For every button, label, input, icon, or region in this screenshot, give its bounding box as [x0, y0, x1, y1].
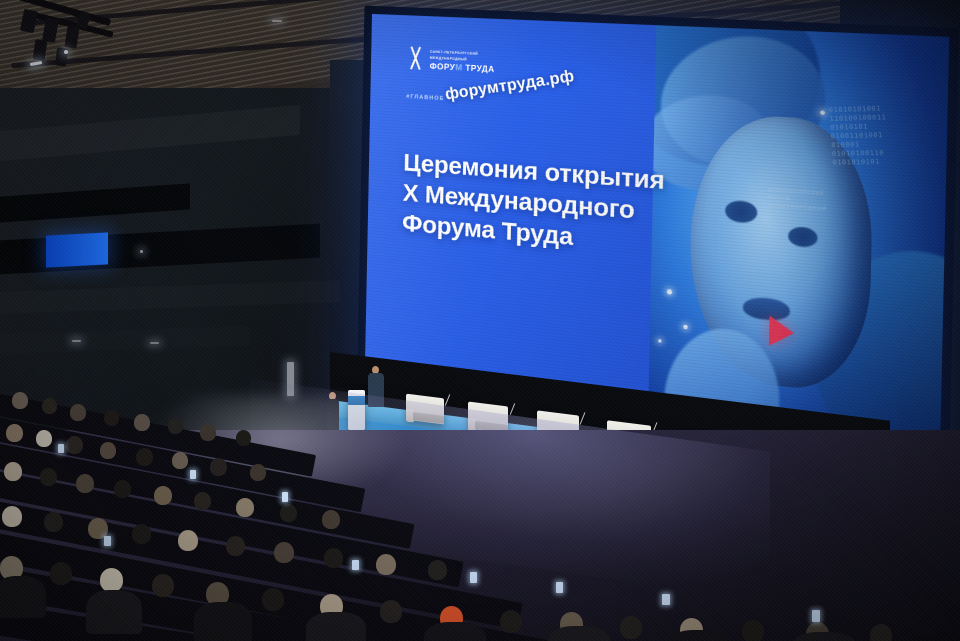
audience-head [172, 452, 188, 469]
audience-phone-screen [470, 572, 477, 583]
audience-head [168, 418, 183, 434]
audience-head [226, 536, 245, 556]
audience-shoulders [0, 576, 46, 618]
audience-head [44, 512, 63, 532]
audience-head [380, 600, 402, 623]
audience-head [210, 458, 227, 476]
audience-head [200, 424, 216, 441]
audience-head [178, 530, 198, 551]
audience-head [50, 562, 72, 585]
audience-head [154, 486, 172, 505]
audience-head [70, 404, 86, 421]
audience-phone-screen [58, 444, 64, 453]
audience-head [324, 548, 343, 568]
audience-head [620, 616, 642, 639]
audience-head [42, 398, 57, 414]
wall-spot [72, 340, 81, 342]
slide-tag: #ГЛАВНОЕ [406, 94, 444, 102]
audience-head [40, 468, 57, 486]
play-triangle-icon [768, 316, 793, 349]
audience-head [12, 392, 28, 409]
audience-head [280, 504, 297, 522]
audience-phone-screen [282, 492, 288, 502]
audience-head [236, 430, 251, 446]
forum-logo: САНКТ-ПЕТЕРБУРГСКИЙ МЕЖДУНАРОДНЫЙ ФОРУМ … [405, 45, 495, 74]
audience-shoulders [86, 590, 142, 634]
audience-phone-screen [352, 560, 359, 570]
forum-website-url: форумтруда.рф [443, 68, 575, 105]
audience-head [500, 610, 522, 633]
logo-wordmark: ФОРУМ ТРУДА [430, 61, 495, 74]
audience-head [134, 414, 150, 431]
audience-head [262, 588, 284, 611]
audience-head [100, 568, 123, 592]
audience-phone-screen [812, 610, 820, 622]
audience-head [66, 436, 83, 454]
slide-ghost-text: ВСЕРОССИЙСКИЙ ФОРУМ МЕЖДУНАРОДНЫЙ [767, 186, 827, 213]
audience-head [4, 462, 22, 481]
audience-head [6, 424, 23, 442]
audience-head [428, 560, 447, 580]
audience-head [152, 574, 174, 597]
audience-shoulders [424, 622, 486, 641]
audience-phone-screen [556, 582, 563, 593]
logo-word-1: ФОРУ [430, 61, 456, 72]
audience-head [76, 474, 94, 493]
logo-word-accent: М [455, 62, 463, 73]
audience-head [742, 620, 764, 641]
audience-head [236, 498, 254, 517]
audience-head [250, 464, 266, 481]
binary-code-overlay: 01010101001 110100100011 01010101 010011… [829, 103, 942, 255]
x-logo-icon [405, 45, 425, 70]
audience-shoulders [306, 612, 366, 641]
audience-head [322, 510, 340, 529]
logo-word-2: ТРУДА [465, 63, 495, 75]
audience-head [100, 442, 116, 459]
audience-head [2, 506, 22, 527]
audience-head [132, 524, 151, 544]
audience-head [104, 410, 119, 426]
wall-spot [150, 342, 159, 344]
audience-head [194, 492, 211, 510]
audience-phone-screen [190, 470, 196, 479]
blue-wall-light [46, 232, 108, 267]
audience-head [274, 542, 294, 563]
audience-head [376, 554, 396, 575]
wall-spot [140, 250, 143, 253]
audience-shoulders [194, 602, 252, 641]
ceiling-light-strip [272, 20, 282, 22]
audience-head [870, 624, 892, 641]
audience-shoulders [548, 626, 610, 641]
audience-phone-screen [104, 536, 111, 546]
slide-headline: Церемония открытия X Международного Фору… [402, 148, 665, 261]
photograph-scene: 01010101001 110100100011 01010101 010011… [0, 0, 960, 641]
audience-head [114, 480, 131, 498]
audience-head [136, 448, 153, 466]
stage-light-beam [64, 50, 68, 54]
audience-phone-screen [662, 594, 670, 605]
audience-head [36, 430, 52, 447]
